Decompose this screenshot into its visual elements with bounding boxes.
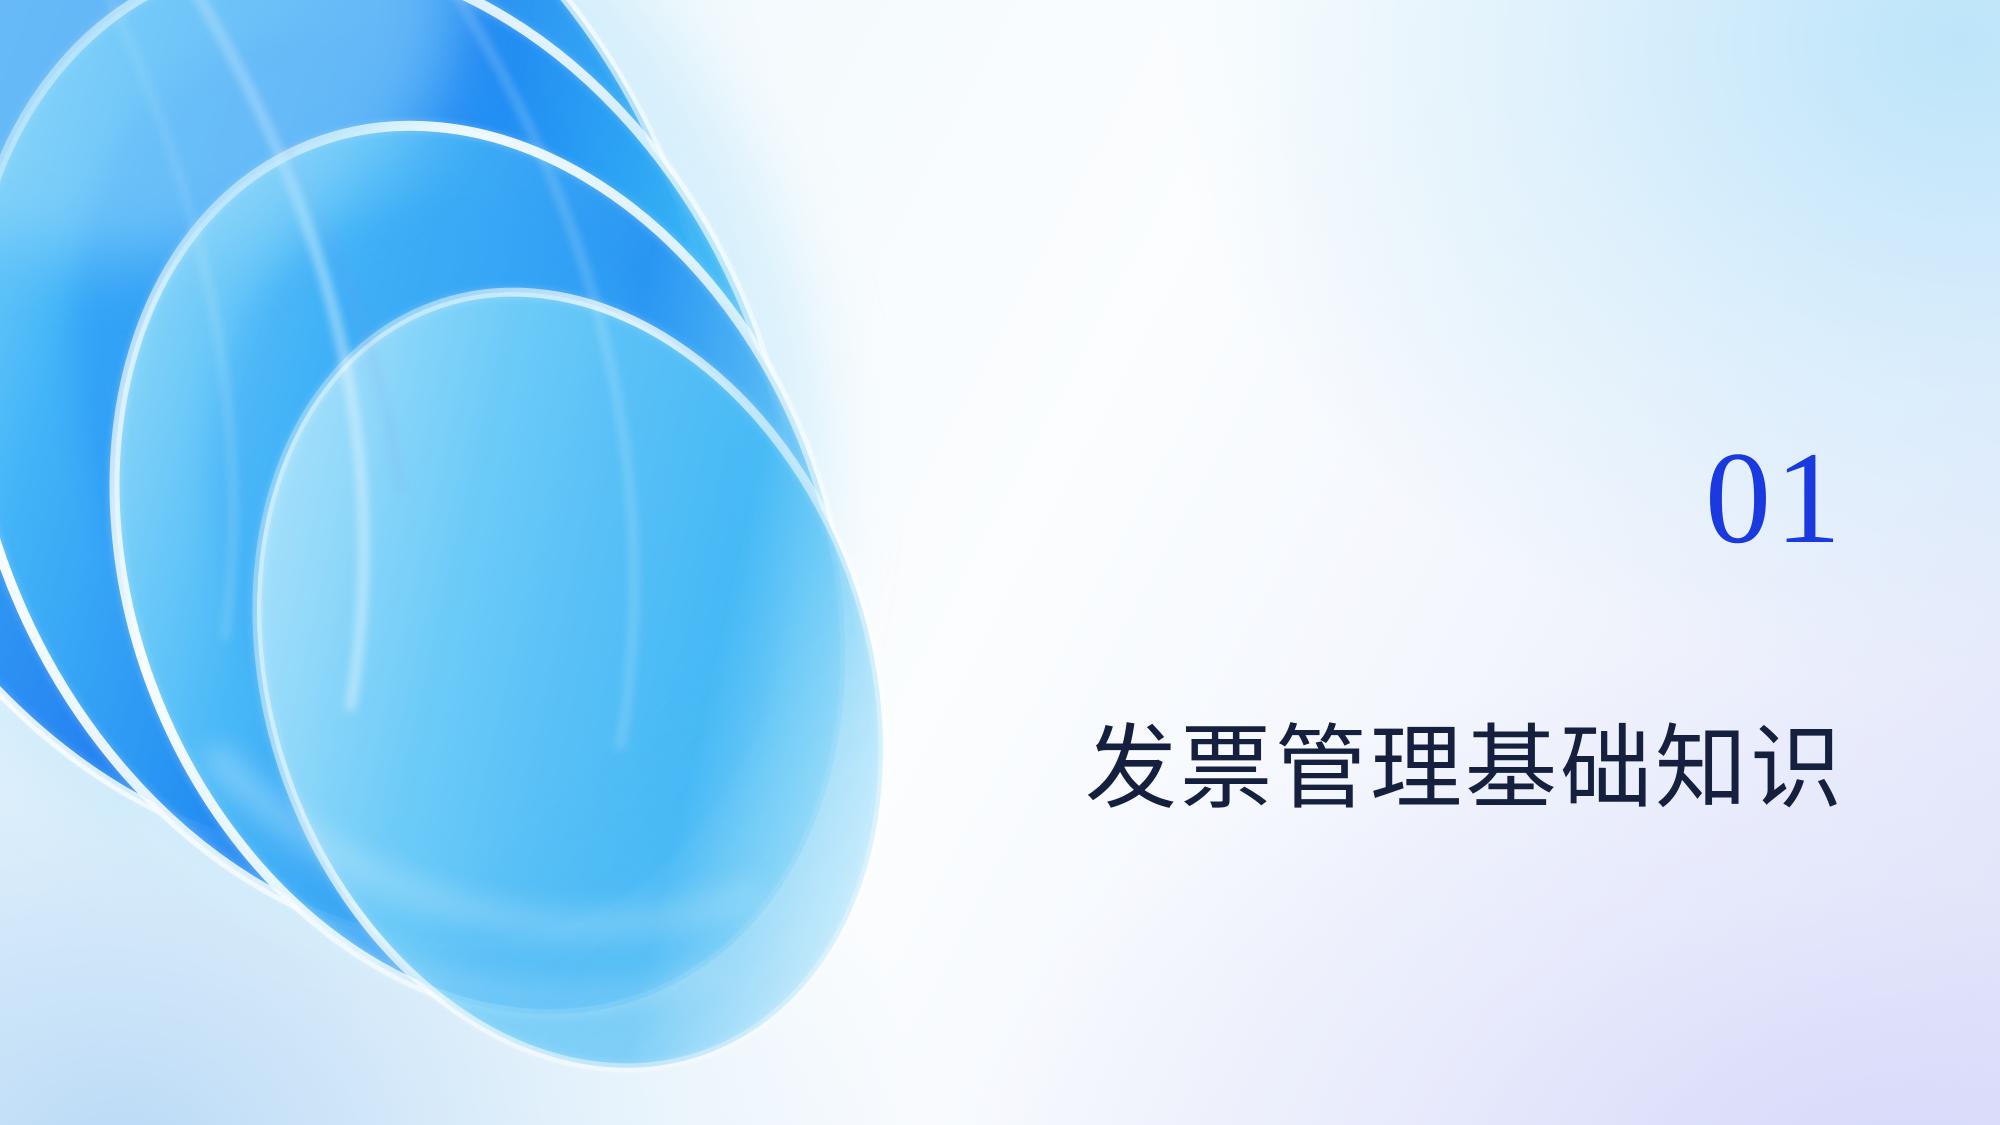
section-title: 发票管理基础知识 bbox=[1085, 723, 1845, 815]
presentation-slide: 01 发票管理基础知识 bbox=[0, 0, 2000, 1125]
abstract-blue-glass-rings-graphic bbox=[0, 0, 960, 1125]
section-number: 01 bbox=[1705, 432, 1845, 564]
